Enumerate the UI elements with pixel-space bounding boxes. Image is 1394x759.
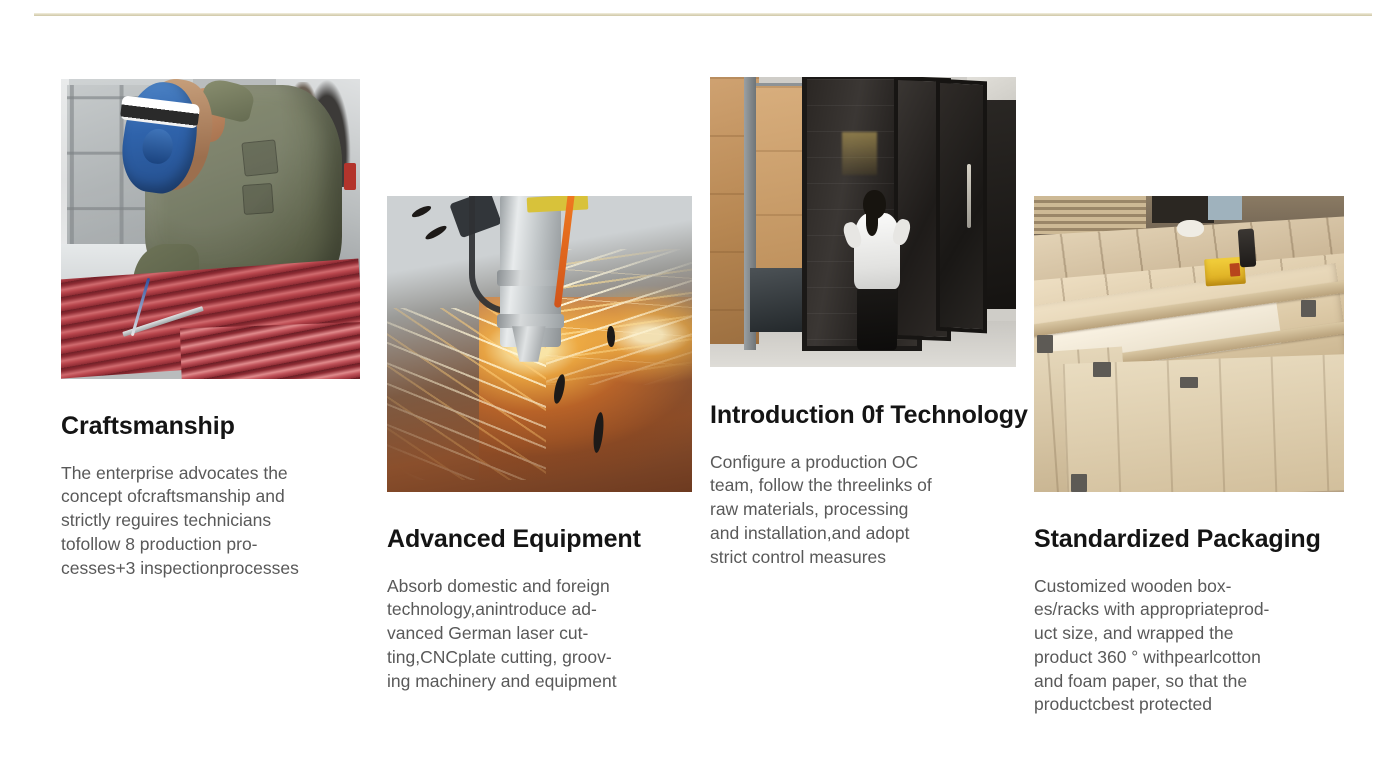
background-right: [276, 79, 360, 277]
cut-slug: [411, 204, 433, 220]
feature-card-craftsmanship: Craftsmanship The enterprise advocates t…: [61, 79, 361, 580]
feature-card-standardized-packaging: Standardized Packaging Customized wooden…: [1034, 196, 1349, 717]
dark-cabinet: [750, 268, 805, 332]
crate-row-middle: [1034, 253, 1344, 359]
visitor-shirt: [854, 213, 900, 288]
door-leaf-second: [894, 77, 951, 341]
metal-frame: [744, 77, 756, 350]
corner-bracket: [1093, 362, 1112, 377]
cutting-glow-secondary: [546, 285, 692, 386]
worker-hand-left: [127, 286, 169, 328]
showroom-floor: [710, 321, 1016, 367]
standardized-packaging-title: Standardized Packaging: [1034, 526, 1349, 554]
laser-head-band: [497, 314, 564, 327]
advanced-equipment-photo: [387, 196, 692, 492]
power-drill: [1237, 228, 1255, 267]
cutting-glow: [479, 297, 693, 481]
visitor-arm-left: [841, 220, 864, 250]
advanced-equipment-title: Advanced Equipment: [387, 526, 697, 554]
blue-panel: [1208, 196, 1242, 220]
safety-glasses: [120, 95, 200, 128]
showroom-wall: [967, 77, 1016, 152]
red-object: [344, 163, 356, 190]
laser-cutting-head: [500, 196, 561, 347]
marking-pen: [131, 278, 150, 337]
measuring-ruler: [122, 306, 203, 337]
sparks-left: [387, 308, 546, 480]
corner-bracket: [1301, 300, 1317, 318]
glass-security-door: [802, 77, 922, 351]
cut-slug: [423, 223, 448, 241]
visitor-arm-right: [890, 217, 912, 246]
cut-slug: [606, 326, 614, 347]
workbench: [61, 244, 216, 322]
background-person-2: [288, 82, 318, 142]
worker-trousers: [252, 265, 318, 337]
introduction-of-technology-title: Introduction 0f Technology: [710, 402, 1020, 430]
machine-rack: [67, 85, 175, 253]
yellow-label: [527, 196, 589, 212]
dark-door-right: [973, 100, 1016, 309]
metal-plate: [387, 249, 692, 492]
dark-doorway: [1152, 196, 1214, 223]
crate-lid: [1034, 263, 1344, 408]
machine-hose: [449, 196, 501, 238]
feature-card-introduction-of-technology: Introduction 0f Technology Configure a p…: [710, 77, 1020, 569]
crate-slat: [1034, 321, 1344, 378]
crate-slat: [1034, 280, 1344, 337]
visitor-legs: [857, 283, 897, 350]
crate-row-far: [1034, 216, 1344, 301]
standardized-packaging-body: Customized wooden box- es/racks with app…: [1034, 575, 1344, 718]
top-divider-rule: [34, 13, 1372, 16]
worker-head: [127, 79, 220, 196]
craftsmanship-photo: [61, 79, 360, 379]
worker-arm: [133, 244, 199, 322]
door-leaf-third: [936, 79, 987, 333]
background-person: [303, 79, 351, 187]
jacket-pocket-lower: [242, 183, 274, 215]
stacked-lumber: [1034, 196, 1146, 234]
workshop-background: [61, 79, 193, 295]
cut-slug: [552, 373, 567, 404]
jacket-collar: [198, 79, 256, 124]
advanced-equipment-body: Absorb domestic and foreign technology,a…: [387, 575, 692, 694]
steel-bars-stack-front: [180, 322, 360, 379]
standardized-packaging-photo: [1034, 196, 1344, 492]
craftsmanship-title: Craftsmanship: [61, 413, 361, 441]
worker-jacket: [145, 85, 342, 301]
craftsmanship-body: The enterprise advocates the concept ofc…: [61, 462, 361, 581]
crate-front-left: [1034, 346, 1132, 492]
blue-welding-mask: [116, 79, 202, 197]
plywood-panel-framed: [747, 83, 808, 309]
worker-hand-right: [202, 289, 250, 328]
black-cable: [469, 196, 512, 314]
visitor-head: [863, 190, 886, 219]
interior-gold-light: [842, 132, 877, 175]
worker-neck: [190, 88, 226, 142]
laser-head-band: [497, 270, 564, 286]
orange-cable: [554, 196, 575, 308]
steel-bars-stack: [61, 259, 360, 379]
corner-bracket: [1180, 377, 1199, 389]
sparks-right: [546, 249, 692, 385]
door-handle: [967, 164, 971, 228]
cut-slug: [592, 412, 605, 454]
laser-nozzle: [512, 326, 546, 362]
crate-front-main: [1063, 354, 1344, 492]
corner-bracket: [1037, 335, 1053, 353]
introduction-of-technology-body: Configure a production OC team, follow t…: [710, 451, 1010, 570]
feature-card-advanced-equipment: Advanced Equipment Absorb domestic and f…: [387, 196, 697, 693]
white-bag: [1177, 220, 1205, 238]
introduction-of-technology-photo: [710, 77, 1016, 367]
jacket-pocket-upper: [242, 139, 279, 177]
corner-bracket: [1071, 474, 1087, 492]
plywood-panel: [710, 77, 759, 344]
visitor-ponytail: [866, 210, 878, 236]
warehouse-wall: [1034, 196, 1344, 243]
yellow-toolbox: [1204, 257, 1246, 286]
